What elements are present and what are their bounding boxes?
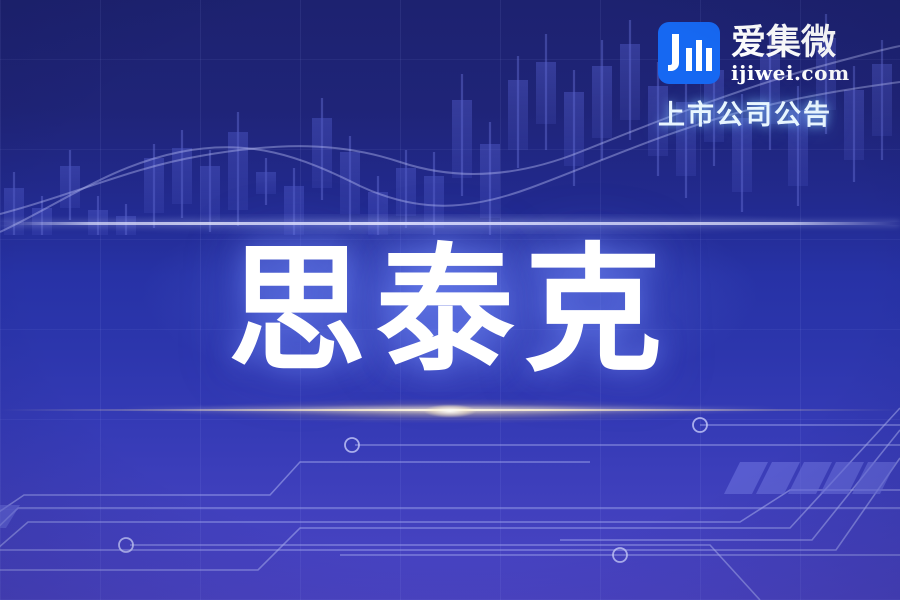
banner-subtitle: 上市公司公告 [658,93,872,132]
announcement-banner: 思泰克 爱集微 ijiwei.com [0,0,900,600]
divider-line [0,222,900,225]
brand-name-cn: 爱集微 [731,25,850,61]
brand-domain: ijiwei.com [731,62,850,84]
slash-bar-group-right [724,462,896,494]
brand-logo-block: 爱集微 ijiwei.com 上市公司公告 [658,22,872,132]
page-title: 思泰克 [0,236,900,386]
bar-chart-logo-icon [658,22,720,84]
brand-logo-row: 爱集微 ijiwei.com [658,22,872,84]
circuit-traces-background [0,400,900,600]
slash-bar-group-left [0,505,20,528]
brand-wordmark: 爱集微 ijiwei.com [731,25,850,84]
